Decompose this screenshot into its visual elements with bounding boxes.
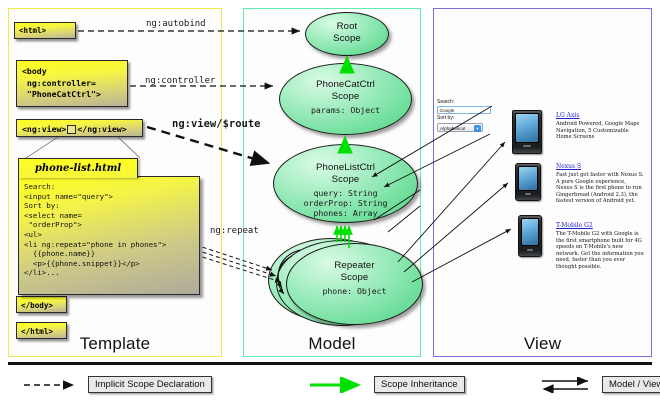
scope-repeater-title-line1: Repeater — [287, 260, 422, 272]
edge-label-ng-controller: ng:controller — [145, 76, 215, 86]
edge-label-ng-repeat: ng:repeat — [210, 226, 259, 236]
edge-label-ng-autobind: ng:autobind — [146, 19, 206, 29]
phone-link-t-mobile-g2[interactable]: T-Mobile G2 — [556, 222, 644, 229]
phone-home-button-icon — [525, 193, 531, 195]
scope-phonelistctrl: PhoneListCtrl Scope query: String orderP… — [273, 144, 418, 223]
list-item: LG Axis Android Powered, Google Maps Nav… — [556, 112, 644, 141]
code-box-html-open: <html> — [14, 22, 76, 39]
double-arrow-icon — [536, 377, 596, 393]
search-input[interactable]: Google — [437, 106, 491, 114]
phone-body — [518, 215, 542, 257]
sort-select[interactable]: Alphabetical▾ — [437, 123, 483, 132]
phone-bottom — [518, 191, 538, 197]
phone-screen — [521, 218, 539, 246]
scope-phonecat-title-line2: Scope — [280, 91, 411, 103]
phone-snippet: Android Powered, Google Maps Navigation,… — [556, 121, 644, 141]
scope-repeater-props: phone: Object — [287, 286, 422, 296]
ngview-placeholder-icon — [67, 125, 76, 134]
code-box-body-open: <body ng:controller= "PhoneCatCtrl"> — [16, 60, 128, 107]
dashed-arrow-icon — [22, 377, 82, 393]
code-box-html-close: </html> — [16, 322, 67, 339]
column-label-view: View — [434, 334, 651, 354]
phone-list-html-note: phone-list.html Search: <input name="que… — [18, 158, 193, 293]
legend-label-implicit: Implicit Scope Declaration — [88, 376, 212, 393]
search-label: Search: — [437, 99, 494, 106]
diagram-canvas: Template Model View <html> <body ng:cont… — [0, 0, 660, 405]
phone-thumbnail-t-mobile-g2 — [518, 215, 542, 257]
phone-home-button-icon — [523, 145, 530, 147]
phone-link-lg-axis[interactable]: LG Axis — [556, 112, 644, 119]
phone-screen — [518, 166, 538, 191]
scope-phonecat-props: params: Object — [280, 105, 411, 115]
phone-body — [515, 163, 541, 201]
edge-label-ng-view-route: ng:view/$route — [172, 118, 261, 130]
phone-bottom — [521, 246, 539, 253]
ngview-close-tag: </ng:view> — [77, 124, 126, 134]
note-code: Search: <input name="query"> Sort by: <s… — [18, 176, 200, 295]
scope-phonecatctrl: PhoneCatCtrl Scope params: Object — [279, 63, 412, 135]
sort-label: Sort by: — [437, 115, 494, 122]
chevron-down-icon[interactable]: ▾ — [474, 125, 481, 132]
phone-home-button-icon — [527, 249, 532, 251]
scope-phonelist-title-line1: PhoneListCtrl — [274, 162, 417, 174]
ngview-open-tag: <ng:view> — [22, 124, 66, 134]
phone-body — [512, 110, 542, 154]
scope-repeater-stack: Repeater Scope phone: Object — [268, 236, 428, 330]
phone-thumbnail-nexus-s — [515, 163, 541, 201]
note-filename: phone-list.html — [19, 159, 137, 178]
scope-phonelist-props: query: String orderProp: String phones: … — [274, 188, 417, 218]
legend: Implicit Scope Declaration Scope Inherit… — [8, 362, 652, 402]
legend-item-binding: Model / View Data-binding — [536, 376, 660, 393]
code-box-ngview: <ng:view></ng:view> — [16, 119, 143, 137]
list-item: Nexus S Fast just got faster with Nexus … — [556, 163, 644, 205]
scope-phonecat-title-line1: PhoneCatCtrl — [280, 79, 411, 91]
scope-root-title-line2: Scope — [306, 33, 388, 45]
scope-root: Root Scope — [305, 12, 389, 56]
legend-item-implicit: Implicit Scope Declaration — [22, 376, 212, 393]
legend-label-binding: Model / View Data-binding — [602, 376, 660, 393]
note-tab: phone-list.html — [18, 158, 138, 178]
scope-repeater-title-line2: Scope — [287, 272, 422, 284]
list-item: T-Mobile G2 The T-Mobile G2 with Google … — [556, 222, 644, 271]
code-box-body-close: </body> — [16, 296, 67, 313]
legend-label-inheritance: Scope Inheritance — [374, 376, 465, 393]
phone-screen — [515, 113, 539, 143]
phone-snippet: The T-Mobile G2 with Google is the first… — [556, 231, 644, 271]
phone-snippet: Fast just got faster with Nexus S. A pur… — [556, 172, 644, 205]
scope-phonelist-title-line2: Scope — [274, 174, 417, 186]
scope-repeater: Repeater Scope phone: Object — [286, 243, 423, 325]
phone-bottom — [515, 143, 539, 151]
scope-root-title-line1: Root — [306, 21, 388, 33]
column-label-model: Model — [244, 334, 420, 354]
search-form[interactable]: Search: Google Sort by: Alphabetical▾ — [437, 99, 494, 132]
legend-divider — [8, 362, 652, 365]
legend-item-inheritance: Scope Inheritance — [308, 376, 465, 393]
phone-link-nexus-s[interactable]: Nexus S — [556, 163, 644, 170]
sort-select-value: Alphabetical — [440, 126, 465, 131]
phone-thumbnail-lg-axis — [512, 110, 542, 154]
green-arrow-icon — [308, 377, 368, 393]
